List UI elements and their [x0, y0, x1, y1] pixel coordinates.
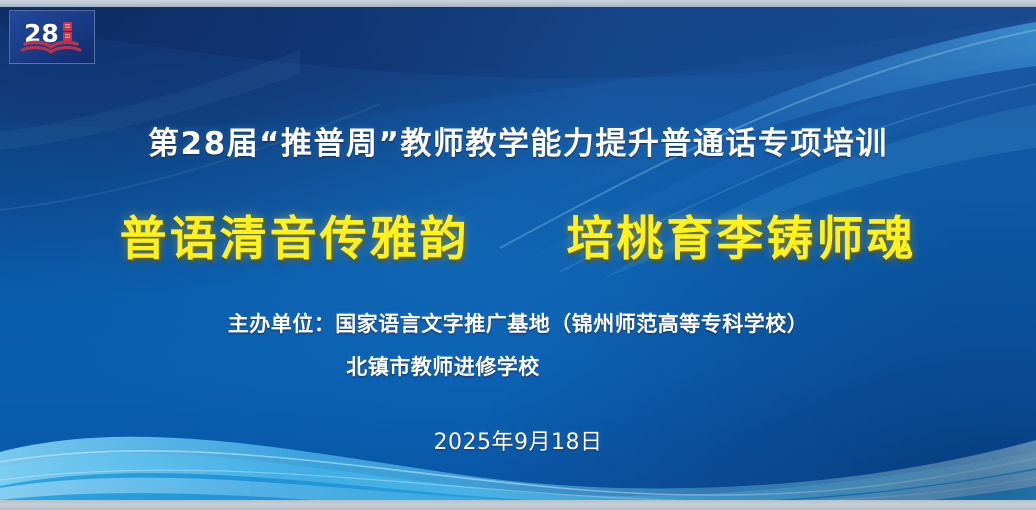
slogan-right: 培桃育李铸师魂: [566, 212, 916, 267]
slogan-left: 普语清音传雅韵: [120, 212, 470, 267]
organizer-line-primary: 主办单位：国家语言文字推广基地（锦州师范高等专科学校）: [0, 308, 1036, 338]
organizer-line-secondary: 北镇市教师进修学校: [0, 351, 1036, 381]
main-title: 第28届“推普周”教师教学能力提升普通话专项培训: [0, 118, 1036, 163]
event-logo: 28: [9, 10, 95, 64]
bottom-frame-strip: [0, 500, 1036, 510]
slide-content: 第28届“推普周”教师教学能力提升普通话专项培训 普语清音传雅韵 培桃育李铸师魂…: [0, 0, 1036, 510]
slogan-line: 普语清音传雅韵 培桃育李铸师魂: [0, 200, 1036, 269]
presentation-slide: 28 第28届“推普周”教师教学能力提升普通: [0, 0, 1036, 510]
event-date: 2025年9月18日: [0, 424, 1036, 456]
top-frame-strip: [0, 0, 1036, 7]
logo-artwork: 28: [10, 11, 94, 63]
